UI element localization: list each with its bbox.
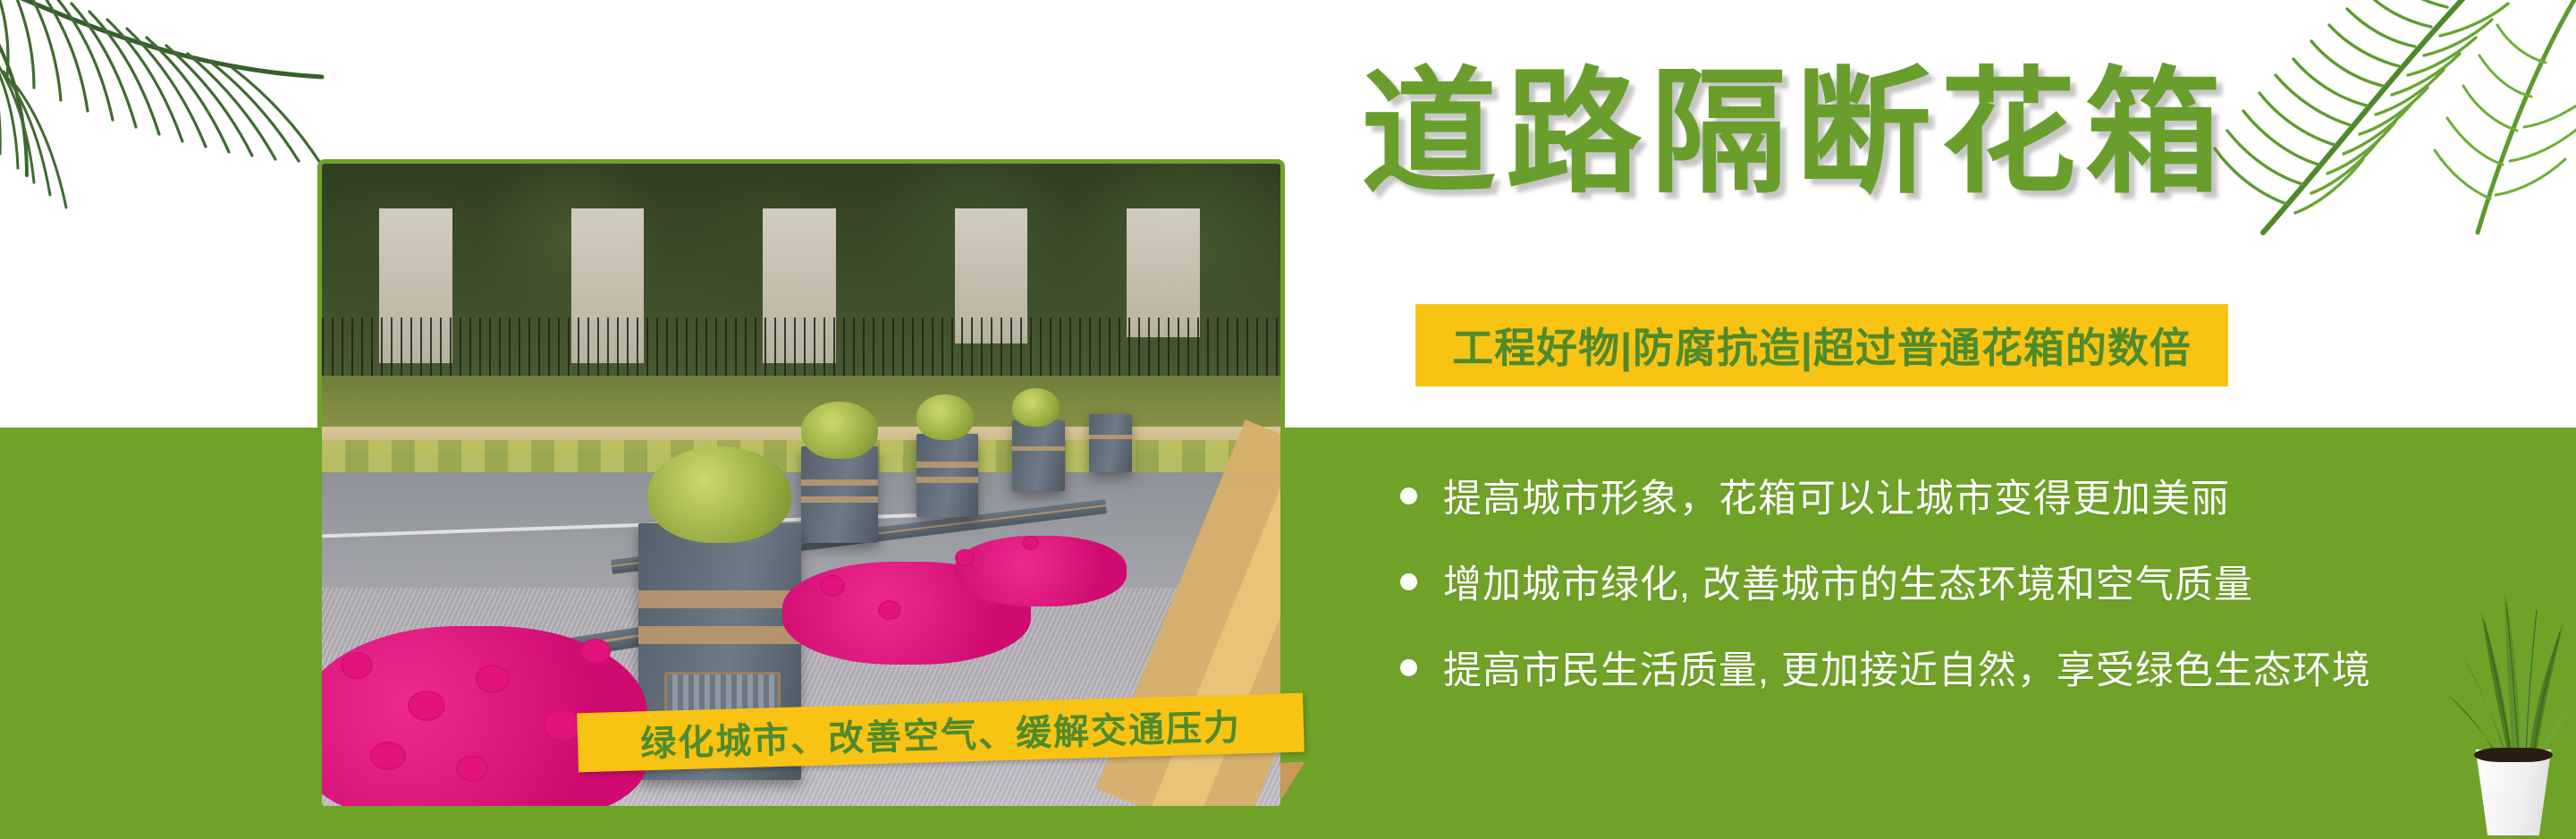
list-item-label: 提高城市形象，花箱可以让城市变得更加美丽 <box>1443 468 2230 523</box>
list-item: 增加城市绿化, 改善城市的生态环境和空气质量 <box>1400 538 2563 624</box>
snake-plant-leaves-icon <box>2445 572 2576 765</box>
plant-pot <box>2470 750 2556 835</box>
potted-plant-icon <box>2445 572 2576 839</box>
bullet-dot-icon <box>1400 487 1417 504</box>
list-item: 提高市民生活质量, 更加接近自然，享受绿色生态环境 <box>1400 624 2563 710</box>
list-item: 提高城市形象，花箱可以让城市变得更加美丽 <box>1400 453 2563 538</box>
page-title: 道路隔断花箱 <box>1361 63 2230 206</box>
feature-list: 提高城市形象，花箱可以让城市变得更加美丽 增加城市绿化, 改善城市的生态环境和空… <box>1400 453 2563 710</box>
bullet-dot-icon <box>1400 573 1417 590</box>
product-banner: 绿化城市、改善空气、缓解交通压力 道路隔断花箱 工程好物|防腐抗造|超过普通花箱… <box>0 0 2576 839</box>
subtitle-text: 工程好物|防腐抗造|超过普通花箱的数倍 <box>1452 316 2192 375</box>
plant-soil <box>2474 748 2553 762</box>
subtitle-highlight-bar: 工程好物|防腐抗造|超过普通花箱的数倍 <box>1415 304 2228 386</box>
bullet-dot-icon <box>1400 659 1417 676</box>
list-item-label: 增加城市绿化, 改善城市的生态环境和空气质量 <box>1443 554 2253 609</box>
list-item-label: 提高市民生活质量, 更加接近自然，享受绿色生态环境 <box>1443 640 2371 695</box>
